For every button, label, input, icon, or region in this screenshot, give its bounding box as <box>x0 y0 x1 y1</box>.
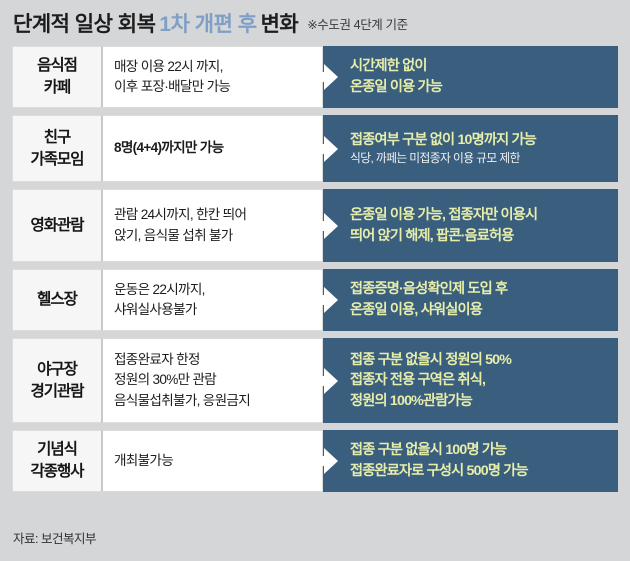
row-after-cell: 시간제한 없이 온종일 이용 가능 <box>323 46 618 108</box>
after-line: 온종일 이용, 샤워실이용 <box>350 300 610 321</box>
row-label-line: 음식점 <box>37 55 77 77</box>
row-before-cell: 매장 이용 22시 까지, 이후 포장·배달만 가능 <box>101 46 323 108</box>
table-row: 친구 가족모임 8명(4+4)까지만 가능 접종여부 구분 없이 10명까지 가… <box>12 115 618 182</box>
before-line: 이후 포장·배달만 가능 <box>114 77 314 97</box>
row-label-line: 경기관람 <box>30 381 83 403</box>
row-label-line: 친구 <box>44 127 71 149</box>
after-line: 접종증명·음성확인제 도입 후 <box>350 279 610 300</box>
table-row: 음식점 카페 매장 이용 22시 까지, 이후 포장·배달만 가능 시간제한 없… <box>12 46 618 108</box>
row-label-line: 가족모임 <box>30 149 83 171</box>
page-title-main-1: 단계적 일상 회복 <box>13 8 155 38</box>
row-label-line: 헬스장 <box>37 289 77 311</box>
before-line: 샤워실사용불가 <box>114 300 314 320</box>
row-label-line: 각종행사 <box>30 461 83 483</box>
row-after-cell: 온종일 이용 가능, 접종자만 이용시 띄어 앉기 해제, 팝콘·음료허용 <box>323 189 618 262</box>
before-line: 8명(4+4)까지만 가능 <box>114 138 314 158</box>
row-after-cell: 접종 구분 없을시 100명 가능 접종완료자로 구성시 500명 가능 <box>323 430 618 492</box>
source-note: 자료: 보건복지부 <box>13 528 96 547</box>
before-line: 운동은 22시까지, <box>114 280 314 300</box>
row-before-cell: 관람 24시까지, 한칸 띄어 앉기, 음식물 섭취 불가 <box>101 189 323 262</box>
before-line: 접종완료자 한정 <box>114 350 314 370</box>
after-line: 접종 구분 없을시 정원의 50% <box>350 350 610 371</box>
after-line: 정원의 100%관람가능 <box>350 391 610 412</box>
table-row: 영화관람 관람 24시까지, 한칸 띄어 앉기, 음식물 섭취 불가 온종일 이… <box>12 189 618 262</box>
row-label-line: 야구장 <box>37 359 77 381</box>
page-title-note: ※수도권 4단계 기준 <box>307 14 407 33</box>
after-line: 시간제한 없이 <box>350 56 610 77</box>
page-title-main-2: 변화 <box>261 8 299 38</box>
comparison-table: 음식점 카페 매장 이용 22시 까지, 이후 포장·배달만 가능 시간제한 없… <box>0 46 630 499</box>
after-line: 접종 구분 없을시 100명 가능 <box>350 440 610 461</box>
after-line: 띄어 앉기 해제, 팝콘·음료허용 <box>350 226 610 247</box>
table-row: 기념식 각종행사 개최불가능 접종 구분 없을시 100명 가능 접종완료자로 … <box>12 430 618 492</box>
table-row: 야구장 경기관람 접종완료자 한정 정원의 30%만 관람 음식물섭취불가, 응… <box>12 338 618 423</box>
row-label-cell: 야구장 경기관람 <box>12 338 101 423</box>
before-line: 음식물섭취불가, 응원금지 <box>114 391 314 411</box>
row-label-cell: 친구 가족모임 <box>12 115 101 182</box>
after-sub-line: 식당, 까페는 미접종자 이용 규모 제한 <box>350 150 610 167</box>
after-line: 온종일 이용 가능, 접종자만 이용시 <box>350 205 610 226</box>
row-label-line: 카페 <box>44 77 71 99</box>
page-header: 단계적 일상 회복 1차 개편 후 변화 ※수도권 4단계 기준 <box>0 0 630 46</box>
row-label-cell: 음식점 카페 <box>12 46 101 108</box>
row-before-cell: 접종완료자 한정 정원의 30%만 관람 음식물섭취불가, 응원금지 <box>101 338 323 423</box>
row-label-cell: 기념식 각종행사 <box>12 430 101 492</box>
after-line: 접종자 전용 구역은 취식, <box>350 370 610 391</box>
row-label-cell: 헬스장 <box>12 269 101 331</box>
row-label-cell: 영화관람 <box>12 189 101 262</box>
before-line: 관람 24시까지, 한칸 띄어 <box>114 205 314 225</box>
row-label-line: 기념식 <box>37 439 77 461</box>
row-before-cell: 8명(4+4)까지만 가능 <box>101 115 323 182</box>
row-before-cell: 운동은 22시까지, 샤워실사용불가 <box>101 269 323 331</box>
before-line: 정원의 30%만 관람 <box>114 370 314 390</box>
before-line: 개최불가능 <box>114 451 314 471</box>
before-line: 앉기, 음식물 섭취 불가 <box>114 226 314 246</box>
after-line: 접종여부 구분 없이 10명까지 가능 <box>350 130 610 151</box>
row-after-cell: 접종여부 구분 없이 10명까지 가능 식당, 까페는 미접종자 이용 규모 제… <box>323 115 618 182</box>
before-line: 매장 이용 22시 까지, <box>114 57 314 77</box>
after-line: 접종완료자로 구성시 500명 가능 <box>350 461 610 482</box>
row-before-cell: 개최불가능 <box>101 430 323 492</box>
row-after-cell: 접종증명·음성확인제 도입 후 온종일 이용, 샤워실이용 <box>323 269 618 331</box>
after-line: 온종일 이용 가능 <box>350 77 610 98</box>
row-label-line: 영화관람 <box>30 215 83 237</box>
table-row: 헬스장 운동은 22시까지, 샤워실사용불가 접종증명·음성확인제 도입 후 온… <box>12 269 618 331</box>
row-after-cell: 접종 구분 없을시 정원의 50% 접종자 전용 구역은 취식, 정원의 100… <box>323 338 618 423</box>
page-title-accent: 1차 개편 후 <box>155 8 260 38</box>
